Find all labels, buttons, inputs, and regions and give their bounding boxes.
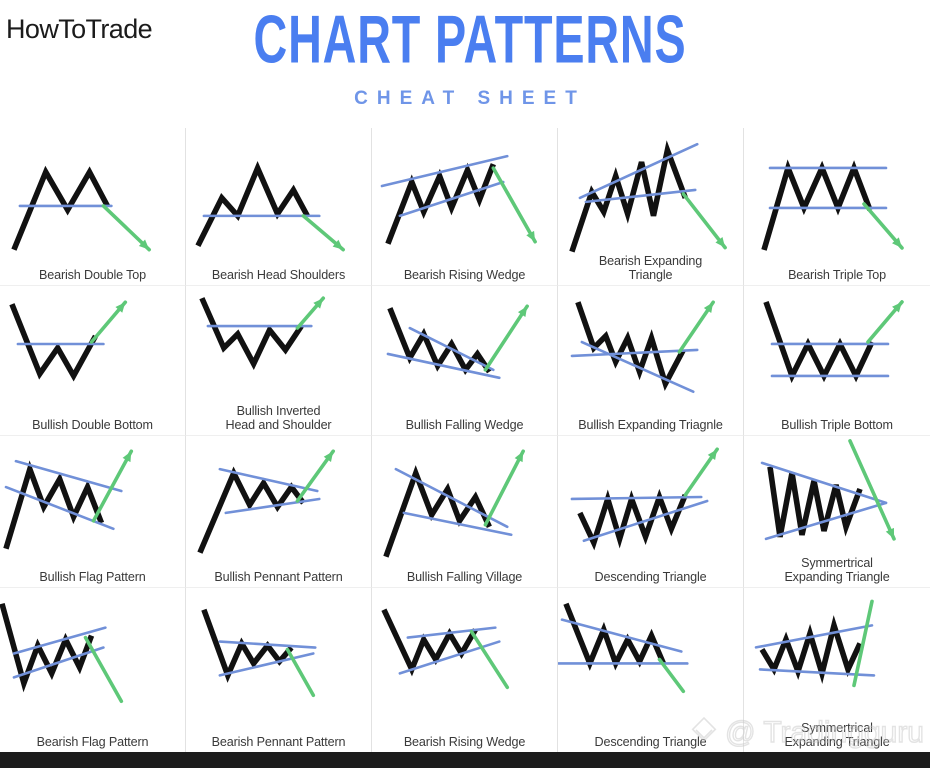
page-title: CHART PATTERNS [93, 6, 847, 77]
pattern-label: Bearish Triple Top [786, 268, 888, 285]
pattern-cell-bearish-double-top[interactable]: Bearish Double Top [0, 128, 186, 286]
pattern-label: Symmertrical Expanding Triangle [782, 556, 891, 587]
pattern-diagram-bearish-head-shoulders [186, 128, 371, 268]
pattern-cell-bullish-falling-village[interactable]: Bullish Falling Village [372, 436, 558, 588]
bottom-bar [0, 752, 930, 768]
pattern-cell-symmertrical-expanding-triangle[interactable]: Symmertrical Expanding Triangle [744, 588, 930, 752]
pattern-diagram-symmertrical-expanding-triangle [744, 436, 930, 566]
cheat-sheet-page: HowToTrade CHART PATTERNS CHEAT SHEET Be… [0, 0, 930, 768]
pattern-label: Bearish Rising Wedge [402, 735, 527, 752]
pattern-diagram-bearish-flag-pattern [0, 588, 185, 735]
page-subtitle: CHEAT SHEET [10, 88, 930, 110]
pattern-cell-bearish-rising-wedge[interactable]: Bearish Rising Wedge [372, 588, 558, 752]
pattern-diagram-bearish-pennant-pattern [186, 588, 371, 735]
pattern-cell-bullish-flag-pattern[interactable]: Bullish Flag Pattern [0, 436, 186, 588]
pattern-diagram-descending-triangle [558, 588, 743, 735]
pattern-label: Bullish Flag Pattern [37, 570, 147, 587]
pattern-label: Descending Triangle [593, 570, 709, 587]
pattern-cell-bearish-head-shoulders[interactable]: Bearish Head Shoulders [186, 128, 372, 286]
pattern-cell-bullish-triple-bottom[interactable]: Bullish Triple Bottom [744, 286, 930, 436]
pattern-label: Bullish Falling Village [405, 570, 524, 587]
pattern-diagram-bullish-falling-wedge [372, 286, 557, 418]
pattern-label: Bearish Pennant Pattern [210, 735, 348, 752]
pattern-cell-bearish-flag-pattern[interactable]: Bearish Flag Pattern [0, 588, 186, 752]
pattern-label: Bullish Pennant Pattern [212, 570, 344, 587]
pattern-label: Descending Triangle [593, 735, 709, 752]
pattern-diagram-bullish-double-bottom [0, 286, 185, 418]
pattern-grid: Bearish Double TopBearish Head Shoulders… [0, 128, 930, 752]
pattern-cell-bullish-pennant-pattern[interactable]: Bullish Pennant Pattern [186, 436, 372, 588]
pattern-label: Bearish Flag Pattern [35, 735, 151, 752]
pattern-diagram-bearish-expanding-triangle [558, 128, 743, 264]
pattern-diagram-symmertrical-expanding-triangle [744, 588, 930, 731]
pattern-diagram-bullish-inverted-head-and-shoulder [186, 286, 371, 414]
pattern-diagram-bearish-triple-top [744, 128, 930, 268]
pattern-label: Bullish Triple Bottom [779, 418, 895, 435]
pattern-diagram-descending-triangle [558, 436, 743, 570]
pattern-cell-symmertrical-expanding-triangle[interactable]: Symmertrical Expanding Triangle [744, 436, 930, 588]
pattern-cell-bullish-falling-wedge[interactable]: Bullish Falling Wedge [372, 286, 558, 436]
pattern-diagram-bearish-double-top [0, 128, 185, 268]
pattern-diagram-bullish-falling-village [372, 436, 557, 570]
pattern-cell-descending-triangle[interactable]: Descending Triangle [558, 436, 744, 588]
pattern-label: Bullish Falling Wedge [404, 418, 526, 435]
pattern-cell-bearish-triple-top[interactable]: Bearish Triple Top [744, 128, 930, 286]
pattern-cell-bearish-expanding-triangle[interactable]: Bearish Expanding Triangle [558, 128, 744, 286]
pattern-cell-bullish-expanding-triagnle[interactable]: Bullish Expanding Triagnle [558, 286, 744, 436]
pattern-cell-bullish-double-bottom[interactable]: Bullish Double Bottom [0, 286, 186, 436]
page-header: HowToTrade CHART PATTERNS CHEAT SHEET [0, 0, 930, 128]
pattern-cell-bearish-rising-wedge[interactable]: Bearish Rising Wedge [372, 128, 558, 286]
pattern-label: Bearish Head Shoulders [210, 268, 347, 285]
pattern-diagram-bearish-rising-wedge [372, 128, 557, 268]
pattern-diagram-bullish-flag-pattern [0, 436, 185, 570]
pattern-label: Symmertrical Expanding Triangle [782, 721, 891, 752]
pattern-label: Bullish Inverted Head and Shoulder [224, 404, 334, 435]
pattern-label: Bearish Rising Wedge [402, 268, 527, 285]
pattern-cell-bearish-pennant-pattern[interactable]: Bearish Pennant Pattern [186, 588, 372, 752]
pattern-label: Bullish Double Bottom [30, 418, 155, 435]
pattern-diagram-bullish-triple-bottom [744, 286, 930, 418]
title-block: CHART PATTERNS CHEAT SHEET [0, 6, 930, 110]
pattern-diagram-bullish-pennant-pattern [186, 436, 371, 570]
pattern-cell-descending-triangle[interactable]: Descending Triangle [558, 588, 744, 752]
pattern-diagram-bearish-rising-wedge [372, 588, 557, 735]
pattern-label: Bullish Expanding Triagnle [576, 418, 725, 435]
pattern-label: Bearish Expanding Triangle [597, 254, 704, 285]
pattern-label: Bearish Double Top [37, 268, 148, 285]
pattern-diagram-bullish-expanding-triagnle [558, 286, 743, 418]
pattern-cell-bullish-inverted-head-and-shoulder[interactable]: Bullish Inverted Head and Shoulder [186, 286, 372, 436]
